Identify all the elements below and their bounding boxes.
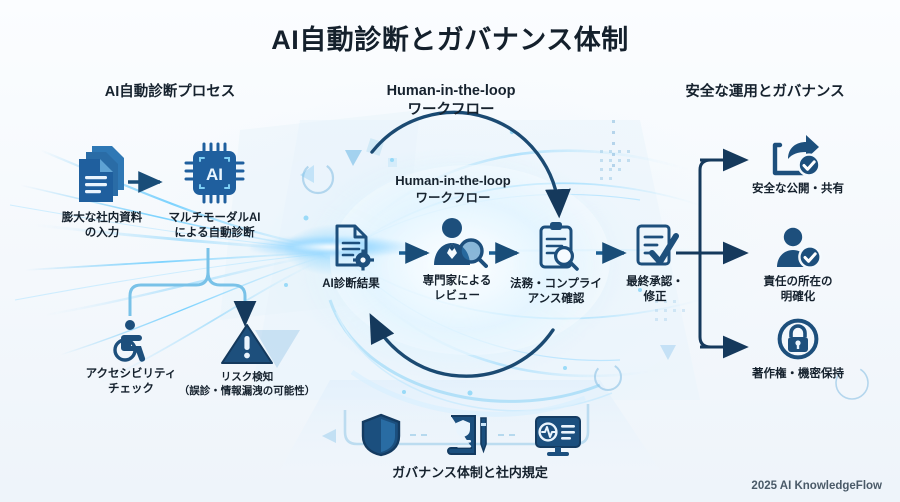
expert-magnifier-icon [412,215,502,269]
node-legal-check-label: 法務・コンプライ アンス確認 [505,277,607,307]
node-multimodal-ai-label: マルチモーダルAI による自動診断 [152,211,277,241]
node-accountability-label: 責任の所在の 明確化 [718,275,878,305]
heading-middle-en: Human-in-the-loop [335,82,567,101]
approved-checklist-icon [616,220,694,270]
ai-chip-icon: AI [152,140,277,206]
node-ai-result[interactable]: AI診断結果 [313,222,389,292]
svg-text:AI: AI [206,165,223,184]
node-expert-review-label: 専門家による レビュー [412,274,502,304]
policy-book-pen-icon [442,412,494,458]
warning-triangle-icon [172,322,322,366]
loop-label: Human-in-the-loop ワークフロー [368,172,538,206]
heading-middle-jp: ワークフロー [335,101,567,120]
node-confidentiality[interactable]: 著作権・機密保持 [718,318,878,382]
node-multimodal-ai[interactable]: AI マルチモーダルAI による自動診断 [152,140,277,241]
node-safe-publish[interactable]: 安全な公開・共有 [718,133,878,197]
loop-label-en: Human-in-the-loop [368,172,538,190]
node-final-approval[interactable]: 最終承認・ 修正 [616,220,694,305]
loop-label-jp: ワークフロー [368,190,538,207]
shield-icon [355,412,407,458]
node-accountability[interactable]: 責任の所在の 明確化 [718,226,878,305]
node-risk[interactable]: リスク検知 （誤診・情報漏洩の可能性） [172,322,322,398]
document-gear-icon [313,222,389,272]
clipboard-search-icon [505,220,607,272]
governance-policy-book[interactable] [442,412,494,458]
infographic-canvas: AI自動診断とガバナンス体制 AI自動診断プロセス Human-in-the-l… [0,0,900,502]
node-documents[interactable]: 膨大な社内資料 の入力 [42,140,162,241]
governance-monitoring[interactable] [530,412,586,458]
node-legal-check[interactable]: 法務・コンプライ アンス確認 [505,220,607,307]
node-risk-label: リスク検知 （誤診・情報漏洩の可能性） [172,371,322,398]
documents-icon [42,140,162,206]
governance-shield[interactable] [355,412,407,458]
heading-right-column: 安全な運用とガバナンス [640,83,890,102]
heading-left-column: AI自動診断プロセス [40,83,300,102]
node-confidentiality-label: 著作権・機密保持 [718,367,878,382]
user-check-icon [718,226,878,270]
lock-icon [718,318,878,362]
page-title: AI自動診断とガバナンス体制 [0,18,900,57]
footer-credit: 2025 AI KnowledgeFlow [751,480,882,492]
governance-caption: ガバナンス体制と社内規定 [320,462,620,481]
node-safe-publish-label: 安全な公開・共有 [718,182,878,197]
heading-middle-column: Human-in-the-loop ワークフロー [335,82,567,120]
node-documents-label: 膨大な社内資料 の入力 [42,211,162,241]
monitor-pulse-icon [530,412,586,458]
node-ai-result-label: AI診断結果 [313,277,389,292]
node-final-approval-label: 最終承認・ 修正 [616,275,694,305]
share-check-icon [718,133,878,177]
node-expert-review[interactable]: 専門家による レビュー [412,215,502,304]
